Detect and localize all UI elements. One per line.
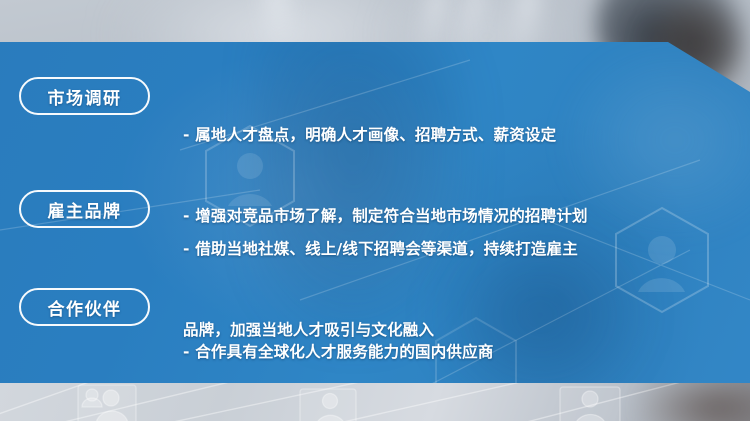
id-card-person-icon [78,385,136,421]
bullet-line: - 借助当地社媒、线上/线下招聘会等渠道，持续打造雇主 [183,236,723,263]
blue-content-panel: 市场调研 - 属地人才盘点，明确人才画像、招聘方式、薪资设定 - 增强对竞品市场… [0,0,750,421]
id-card-person-icon [300,389,356,421]
section-label-employer-brand[interactable]: 雇主品牌 [19,190,150,228]
slide-canvas: 市场调研 - 属地人才盘点，明确人才画像、招聘方式、薪资设定 - 增强对竞品市场… [0,0,750,421]
background-bottom-strip [0,383,750,421]
id-card-person-icon [560,387,620,421]
bullet-line: - 属地人才盘点，明确人才画像、招聘方式、薪资设定 [183,122,723,149]
bullet-line: - 合作具有全球化人才服务能力的国内供应商 [183,339,723,366]
section-label-partners[interactable]: 合作伙伴 [19,288,150,326]
background-bottom-dark-shape [638,383,750,421]
section-label-market-research[interactable]: 市场调研 [19,77,150,115]
